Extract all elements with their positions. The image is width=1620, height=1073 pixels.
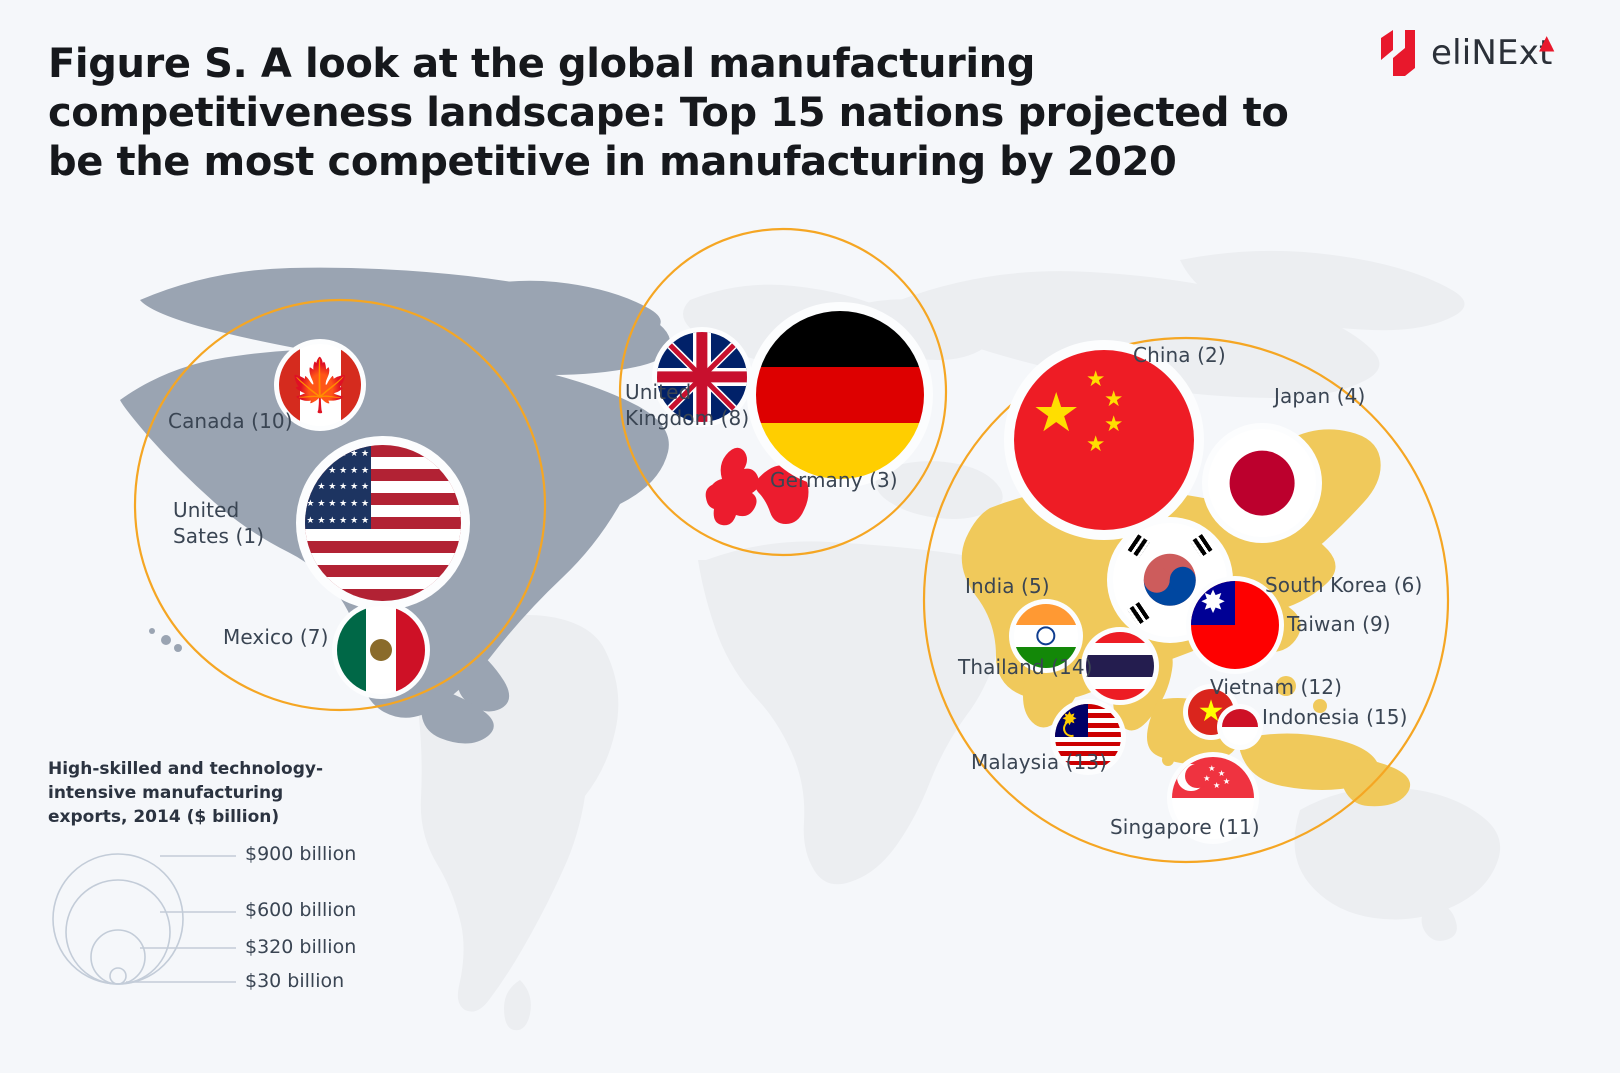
title-line-1: Figure S. A look at the global manufactu…	[48, 40, 1338, 89]
legend-circle-320	[91, 930, 145, 984]
nation-label-singapore: Singapore (11)	[1110, 814, 1260, 840]
nation-label-mexico: Mexico (7)	[223, 624, 329, 650]
nation-label-south-korea: South Korea (6)	[1265, 572, 1422, 598]
flag-mexico-icon	[337, 606, 425, 694]
elinext-logo[interactable]: eliNExt ▲	[1378, 24, 1592, 82]
legend-circle-900	[53, 854, 183, 984]
legend-circle-30	[110, 968, 126, 984]
legend-title-line-1: High-skilled and technology-	[48, 757, 358, 781]
legend-label-900: $900 billion	[245, 845, 356, 864]
legend-title-line-3: exports, 2014 ($ billion)	[48, 805, 358, 829]
flag-germany-icon	[756, 311, 924, 479]
nation-bubble-germany[interactable]	[747, 302, 933, 488]
flag-japan-icon	[1208, 429, 1316, 537]
nation-label-usa: UnitedSates (1)	[173, 497, 264, 549]
legend-title-line-2: intensive manufacturing	[48, 781, 358, 805]
flag-china-icon: ★ ★ ★ ★ ★	[1014, 350, 1194, 530]
nation-label-uk: UnitedKingdom (8)	[625, 379, 749, 431]
nation-label-indonesia: Indonesia (15)	[1262, 704, 1408, 730]
nation-bubble-mexico[interactable]	[332, 601, 430, 699]
legend-circles	[53, 854, 236, 984]
nation-label-germany: Germany (3)	[770, 467, 898, 493]
page-title: Figure S. A look at the global manufactu…	[48, 40, 1338, 186]
nation-label-taiwan: Taiwan (9)	[1287, 611, 1391, 637]
elinext-wordmark: eliNExt ▲	[1431, 33, 1553, 73]
nation-label-japan: Japan (4)	[1274, 383, 1365, 409]
elinext-wordmark-text: eliNExt	[1431, 33, 1553, 73]
title-line-2: competitiveness landscape: Top 15 nation…	[48, 89, 1338, 138]
nation-label-india: India (5)	[965, 573, 1050, 599]
title-line-3: be the most competitive in manufacturing…	[48, 138, 1338, 187]
elinext-n-mark-icon	[1378, 28, 1418, 78]
nation-label-malaysia: Malaysia (13)	[971, 749, 1107, 775]
nation-label-china: China (2)	[1133, 342, 1226, 368]
legend-label-320: $320 billion	[245, 938, 356, 957]
flag-usa-icon: ★★★★★★★★★★★★★★★★★★★★★★★★★★★★★★	[305, 445, 461, 601]
legend-label-600: $600 billion	[245, 901, 356, 920]
legend-title: High-skilled and technology- intensive m…	[48, 757, 358, 829]
flag-indonesia-icon	[1222, 709, 1258, 745]
nation-label-thailand: Thailand (14)	[958, 654, 1093, 680]
nation-label-canada: Canada (10)	[168, 408, 293, 434]
nation-bubble-indonesia[interactable]	[1217, 704, 1263, 750]
flag-thailand-icon	[1086, 632, 1154, 700]
elinext-accent-icon: ▲	[1539, 30, 1555, 54]
nation-label-vietnam: Vietnam (12)	[1210, 674, 1342, 700]
nation-bubble-usa[interactable]: ★★★★★★★★★★★★★★★★★★★★★★★★★★★★★★	[296, 436, 470, 610]
nation-bubble-china[interactable]: ★ ★ ★ ★ ★	[1004, 340, 1204, 540]
legend-label-30: $30 billion	[245, 972, 344, 991]
infographic-canvas: Figure S. A look at the global manufactu…	[0, 0, 1620, 1073]
